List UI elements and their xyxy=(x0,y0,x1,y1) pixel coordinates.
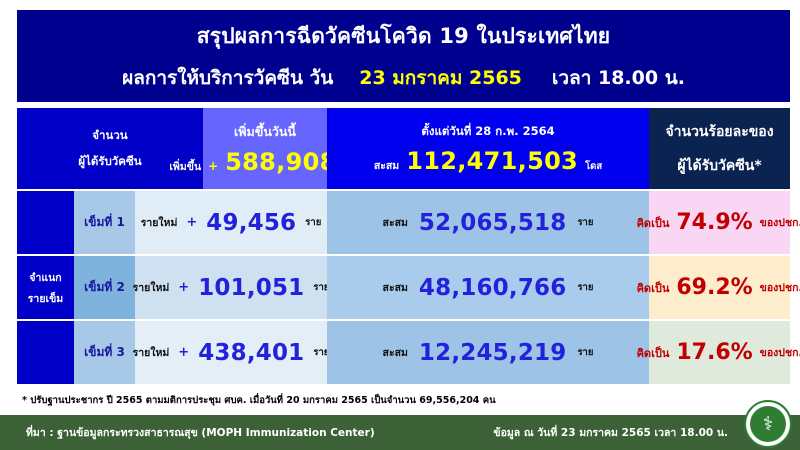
row-new-value: 49,456 xyxy=(206,210,296,236)
row-total-value: 52,065,518 xyxy=(419,210,567,236)
header-total-value-line: สะสม 112,471,503 โดส xyxy=(374,147,602,175)
row-percent-prefix: คิดเป็น xyxy=(637,279,670,297)
row-new-unit: ราย xyxy=(305,215,321,230)
row-total-prefix: สะสม xyxy=(383,344,408,361)
header-label-line2: ผู้ได้รับวัคซีน xyxy=(78,153,141,171)
row-new-plus: + xyxy=(178,345,189,360)
title-banner: สรุปผลการฉีดวัคซีนโควิด 19 ในประเทศไทย ผ… xyxy=(17,10,790,102)
row-new-plus: + xyxy=(178,280,189,295)
side-label-group: จำแนก รายเข็ม xyxy=(17,256,74,319)
row-total-prefix: สะสม xyxy=(383,279,408,296)
row-percent-cell: คิดเป็น 74.9% ของปชก. xyxy=(649,191,790,254)
row-new-prefix: รายใหม่ xyxy=(141,214,178,231)
side-label-line1: จำแนก xyxy=(29,269,61,286)
header-today-value: 588,908 xyxy=(225,148,336,176)
header-total-prefix: สะสม xyxy=(374,157,399,174)
row-total-cell: สะสม 12,245,219 ราย xyxy=(327,321,649,384)
row-percent-value: 74.9% xyxy=(676,210,752,235)
header-percent-line1: จำนวนร้อยละของ xyxy=(665,121,773,143)
row-percent-value: 69.2% xyxy=(676,275,752,300)
table-row: จำแนก รายเข็ม เข็มที่ 2 รายใหม่ + 101,05… xyxy=(17,256,790,319)
row-percent-suffix: ของปชก. xyxy=(760,279,800,296)
row-new-cell: รายใหม่ + 438,401 ราย xyxy=(135,321,327,384)
header-cell-today: เพิ่มขึ้นวันนี้ เพิ่มขึ้น + 588,908 โดส xyxy=(203,108,327,189)
row-dose-label: เข็มที่ 1 xyxy=(74,191,135,254)
header-cell-percent: จำนวนร้อยละของ ผู้ได้รับวัคซีน* xyxy=(649,108,790,189)
table-header-row: จำนวน ผู้ได้รับวัคซีน เพิ่มขึ้นวันนี้ เพ… xyxy=(17,108,790,189)
as-of-text: ข้อมูล ณ วันที่ 23 มกราคม 2565 เวลา 18.0… xyxy=(493,424,728,441)
side-label-line2: รายเข็ม xyxy=(28,290,63,307)
header-today-prefix: เพิ่มขึ้น xyxy=(169,158,201,175)
row-new-value: 101,051 xyxy=(198,275,304,301)
row-dose-label: เข็มที่ 2 xyxy=(74,256,135,319)
row-new-prefix: รายใหม่ xyxy=(133,344,170,361)
side-label-spacer-top xyxy=(17,191,74,254)
row-percent-prefix: คิดเป็น xyxy=(637,344,670,362)
header-total-unit: โดส xyxy=(585,159,602,174)
moph-seal-icon: ⚕ xyxy=(744,400,792,448)
header-today-plus: + xyxy=(208,159,218,173)
row-percent-prefix: คิดเป็น xyxy=(637,214,670,232)
row-percent-value: 17.6% xyxy=(676,340,752,365)
bottom-bar: ที่มา : ฐานข้อมูลกระทรวงสาธารณสุข (MOPH … xyxy=(0,415,800,450)
caduceus-icon: ⚕ xyxy=(750,406,786,442)
subtitle-line: ผลการให้บริการวัคซีน วัน 23 มกราคม 2565 … xyxy=(122,63,685,93)
row-new-cell: รายใหม่ + 49,456 ราย xyxy=(135,191,327,254)
header-today-caption: เพิ่มขึ้นวันนี้ xyxy=(234,122,296,142)
vaccination-table: จำนวน ผู้ได้รับวัคซีน เพิ่มขึ้นวันนี้ เพ… xyxy=(17,108,790,385)
source-text: ที่มา : ฐานข้อมูลกระทรวงสาธารณสุข (MOPH … xyxy=(26,424,375,441)
row-total-cell: สะสม 48,160,766 ราย xyxy=(327,256,649,319)
header-percent-line2: ผู้ได้รับวัคซีน* xyxy=(677,155,761,177)
report-time: เวลา 18.00 น. xyxy=(552,63,685,93)
row-total-unit: ราย xyxy=(577,215,593,230)
row-percent-suffix: ของปชก. xyxy=(760,344,800,361)
row-dose-label: เข็มที่ 3 xyxy=(74,321,135,384)
row-total-unit: ราย xyxy=(577,280,593,295)
side-label-spacer-bottom xyxy=(17,321,74,384)
row-total-value: 12,245,219 xyxy=(419,340,567,366)
row-total-prefix: สะสม xyxy=(383,214,408,231)
table-row: เข็มที่ 3 รายใหม่ + 438,401 ราย สะสม 12,… xyxy=(17,321,790,384)
infographic-root: สรุปผลการฉีดวัคซีนโควิด 19 ในประเทศไทย ผ… xyxy=(0,0,800,450)
header-total-caption: ตั้งแต่วันที่ 28 ก.พ. 2564 xyxy=(421,123,554,141)
header-cell-total: ตั้งแต่วันที่ 28 ก.พ. 2564 สะสม 112,471,… xyxy=(327,108,649,189)
row-new-plus: + xyxy=(186,215,197,230)
row-percent-cell: คิดเป็น 69.2% ของปชก. xyxy=(649,256,790,319)
page-title: สรุปผลการฉีดวัคซีนโควิด 19 ในประเทศไทย xyxy=(197,20,611,53)
header-total-value: 112,471,503 xyxy=(406,147,578,175)
footnote: * ปรับฐานประชากร ปี 2565 ตามมติการประชุม… xyxy=(22,393,722,408)
header-label-line1: จำนวน xyxy=(92,127,127,145)
row-new-prefix: รายใหม่ xyxy=(133,279,170,296)
report-date: 23 มกราคม 2565 xyxy=(359,63,522,93)
row-total-value: 48,160,766 xyxy=(419,275,567,301)
row-total-unit: ราย xyxy=(577,345,593,360)
row-new-cell: รายใหม่ + 101,051 ราย xyxy=(135,256,327,319)
row-total-cell: สะสม 52,065,518 ราย xyxy=(327,191,649,254)
subtitle-prefix: ผลการให้บริการวัคซีน วัน xyxy=(122,63,333,93)
row-new-value: 438,401 xyxy=(198,340,304,366)
row-percent-cell: คิดเป็น 17.6% ของปชก. xyxy=(649,321,790,384)
row-percent-suffix: ของปชก. xyxy=(760,214,800,231)
table-row: เข็มที่ 1 รายใหม่ + 49,456 ราย สะสม 52,0… xyxy=(17,191,790,254)
